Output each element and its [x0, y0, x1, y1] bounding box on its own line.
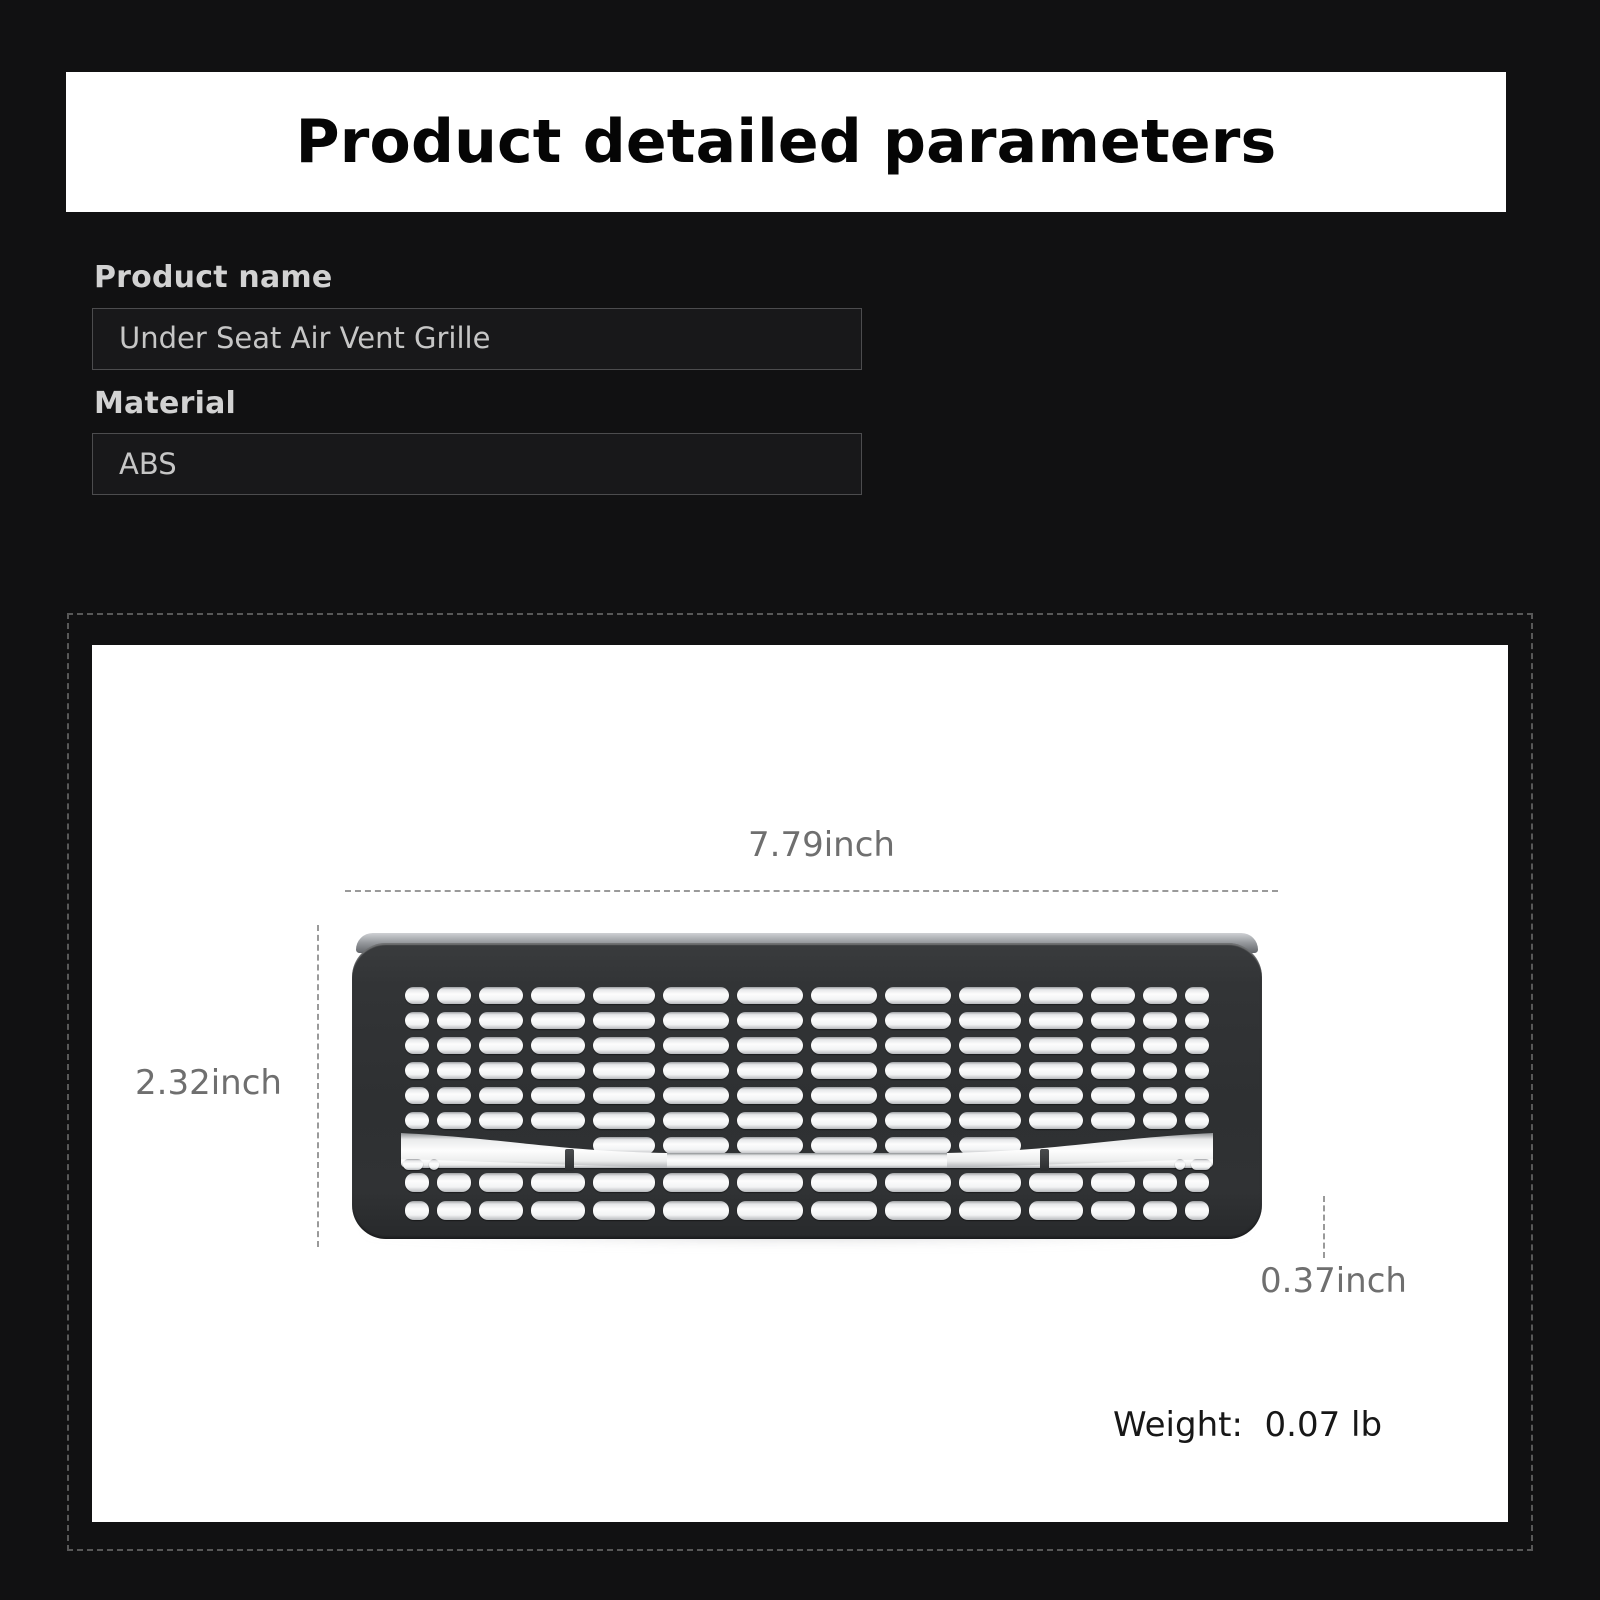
vent-slot [1175, 1159, 1185, 1170]
page-title-banner: Product detailed parameters [66, 72, 1506, 212]
material-input[interactable]: ABS [92, 433, 862, 495]
vent-slot [429, 1159, 439, 1170]
field-label-material: Material [94, 388, 862, 420]
material-value: ABS [119, 450, 177, 479]
product-image-vent-grille [352, 933, 1262, 1245]
width-dimension-line [345, 890, 1278, 892]
height-dimension-line [317, 925, 319, 1247]
field-product-name: Product name Under Seat Air Vent Grille [92, 262, 862, 370]
vent-slot [403, 1159, 423, 1170]
width-dimension-label: 7.79inch [748, 828, 895, 862]
product-body [352, 943, 1262, 1239]
product-name-value: Under Seat Air Vent Grille [119, 324, 490, 353]
vent-divider-tab [565, 1149, 574, 1171]
product-name-input[interactable]: Under Seat Air Vent Grille [92, 308, 862, 370]
height-dimension-label: 2.32inch [135, 1066, 282, 1100]
vent-sweep-curves [352, 943, 1262, 1239]
weight-label: Weight: 0.07 lb [1113, 1408, 1382, 1442]
field-label-product-name: Product name [94, 262, 862, 294]
vent-divider-tab [1040, 1149, 1049, 1171]
field-material: Material ABS [92, 388, 862, 496]
vent-slot [1191, 1159, 1211, 1170]
depth-dimension-line [1323, 1196, 1325, 1258]
depth-dimension-label: 0.37inch [1260, 1264, 1407, 1298]
page-title: Product detailed parameters [296, 112, 1277, 172]
spec-form: Product name Under Seat Air Vent Grille … [92, 262, 862, 513]
